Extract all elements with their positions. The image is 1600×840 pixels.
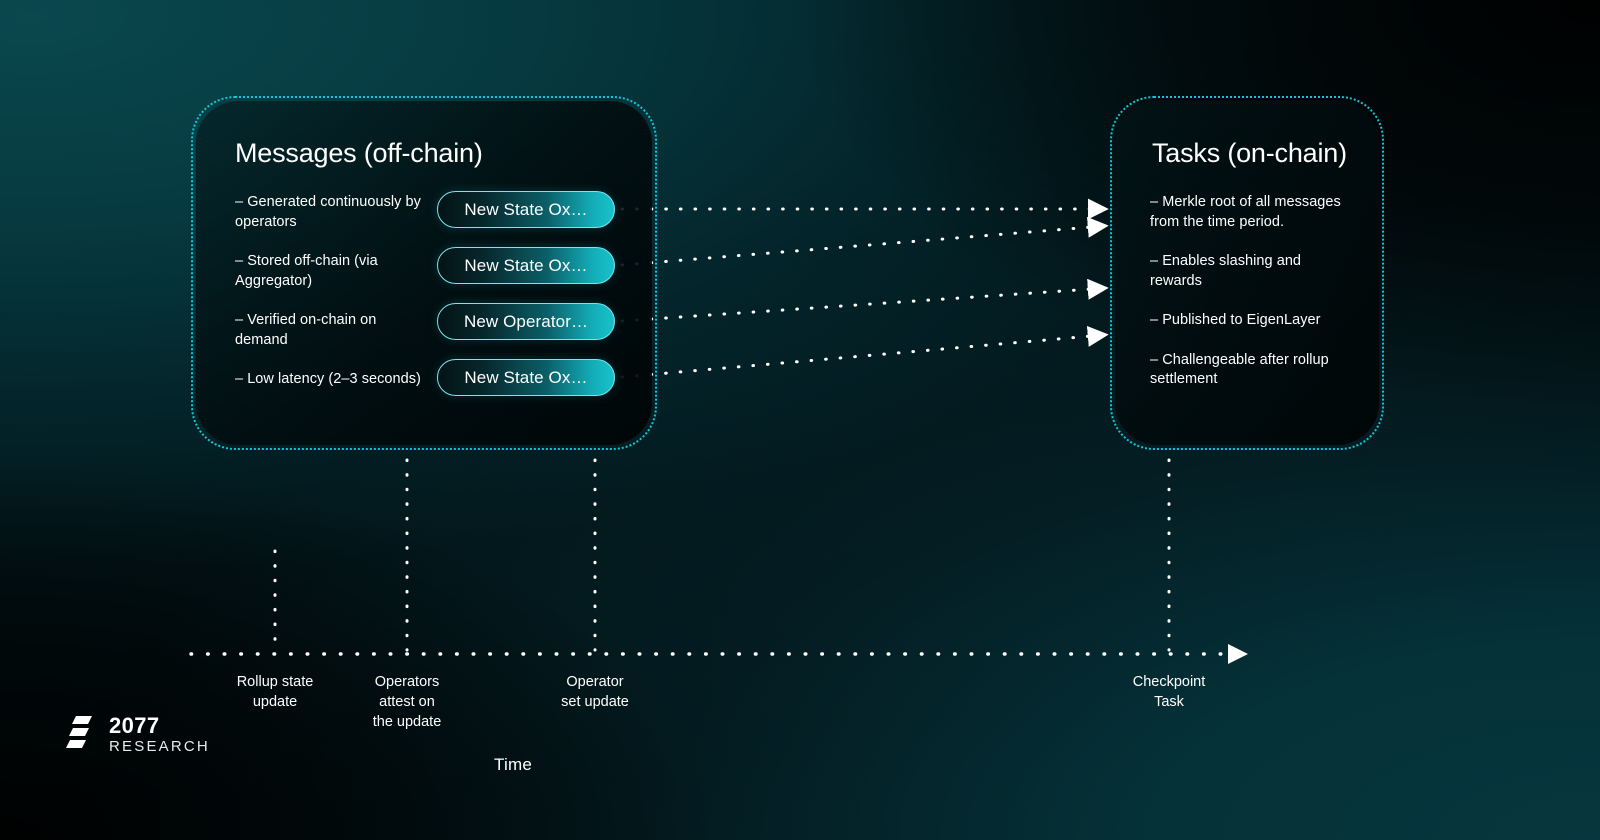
timeline-label-rollup-state-update: Rollup state update — [237, 672, 314, 712]
list-item: – Challengeable after rollup settlement — [1150, 351, 1350, 390]
list-item: – Merkle root of all messages from the t… — [1150, 193, 1350, 232]
diagram-canvas: Messages (off-chain) – Generated continu… — [0, 0, 1600, 840]
panel-messages-bullet-list: – Generated continuously by operators – … — [235, 193, 425, 410]
list-item: – Low latency (2–3 seconds) — [235, 370, 425, 390]
list-item: – Published to EigenLayer — [1150, 311, 1350, 331]
message-to-task-connectors — [622, 209, 1092, 377]
connector-4 — [622, 336, 1092, 377]
connector-2 — [622, 227, 1092, 265]
panel-messages-content: Messages (off-chain) – Generated continu… — [193, 98, 655, 448]
panel-tasks-title: Tasks (on-chain) — [1152, 138, 1347, 169]
list-item: – Generated continuously by operators — [235, 193, 425, 232]
timeline-drop-lines — [275, 460, 1169, 650]
time-axis-arrowhead — [1228, 644, 1248, 664]
list-item: – Verified on-chain on demand — [235, 311, 425, 350]
panel-tasks: Tasks (on-chain) – Merkle root of all me… — [1110, 96, 1384, 450]
three-slash-mark-icon — [66, 714, 100, 754]
panel-messages-title: Messages (off-chain) — [235, 138, 483, 169]
list-item: – Stored off-chain (via Aggregator) — [235, 252, 425, 291]
panel-tasks-content: Tasks (on-chain) – Merkle root of all me… — [1112, 98, 1382, 448]
timeline-label-operator-set-update: Operator set update — [561, 672, 629, 712]
logo-text: 2077 RESEARCH — [109, 715, 210, 754]
timeline-label-operators-attest: Operators attest on the update — [373, 672, 442, 732]
connector-3 — [622, 289, 1092, 321]
logo-subtitle: RESEARCH — [109, 739, 210, 754]
time-axis — [191, 644, 1248, 664]
logo-title: 2077 — [109, 715, 210, 737]
list-item: – Enables slashing and rewards — [1150, 252, 1350, 291]
panel-messages: Messages (off-chain) – Generated continu… — [191, 96, 657, 450]
time-axis-label: Time — [494, 755, 532, 775]
logo-2077-research: 2077 RESEARCH — [66, 714, 210, 754]
panel-tasks-bullet-list: – Merkle root of all messages from the t… — [1150, 193, 1350, 410]
timeline-label-checkpoint-task: Checkpoint Task — [1133, 672, 1206, 712]
